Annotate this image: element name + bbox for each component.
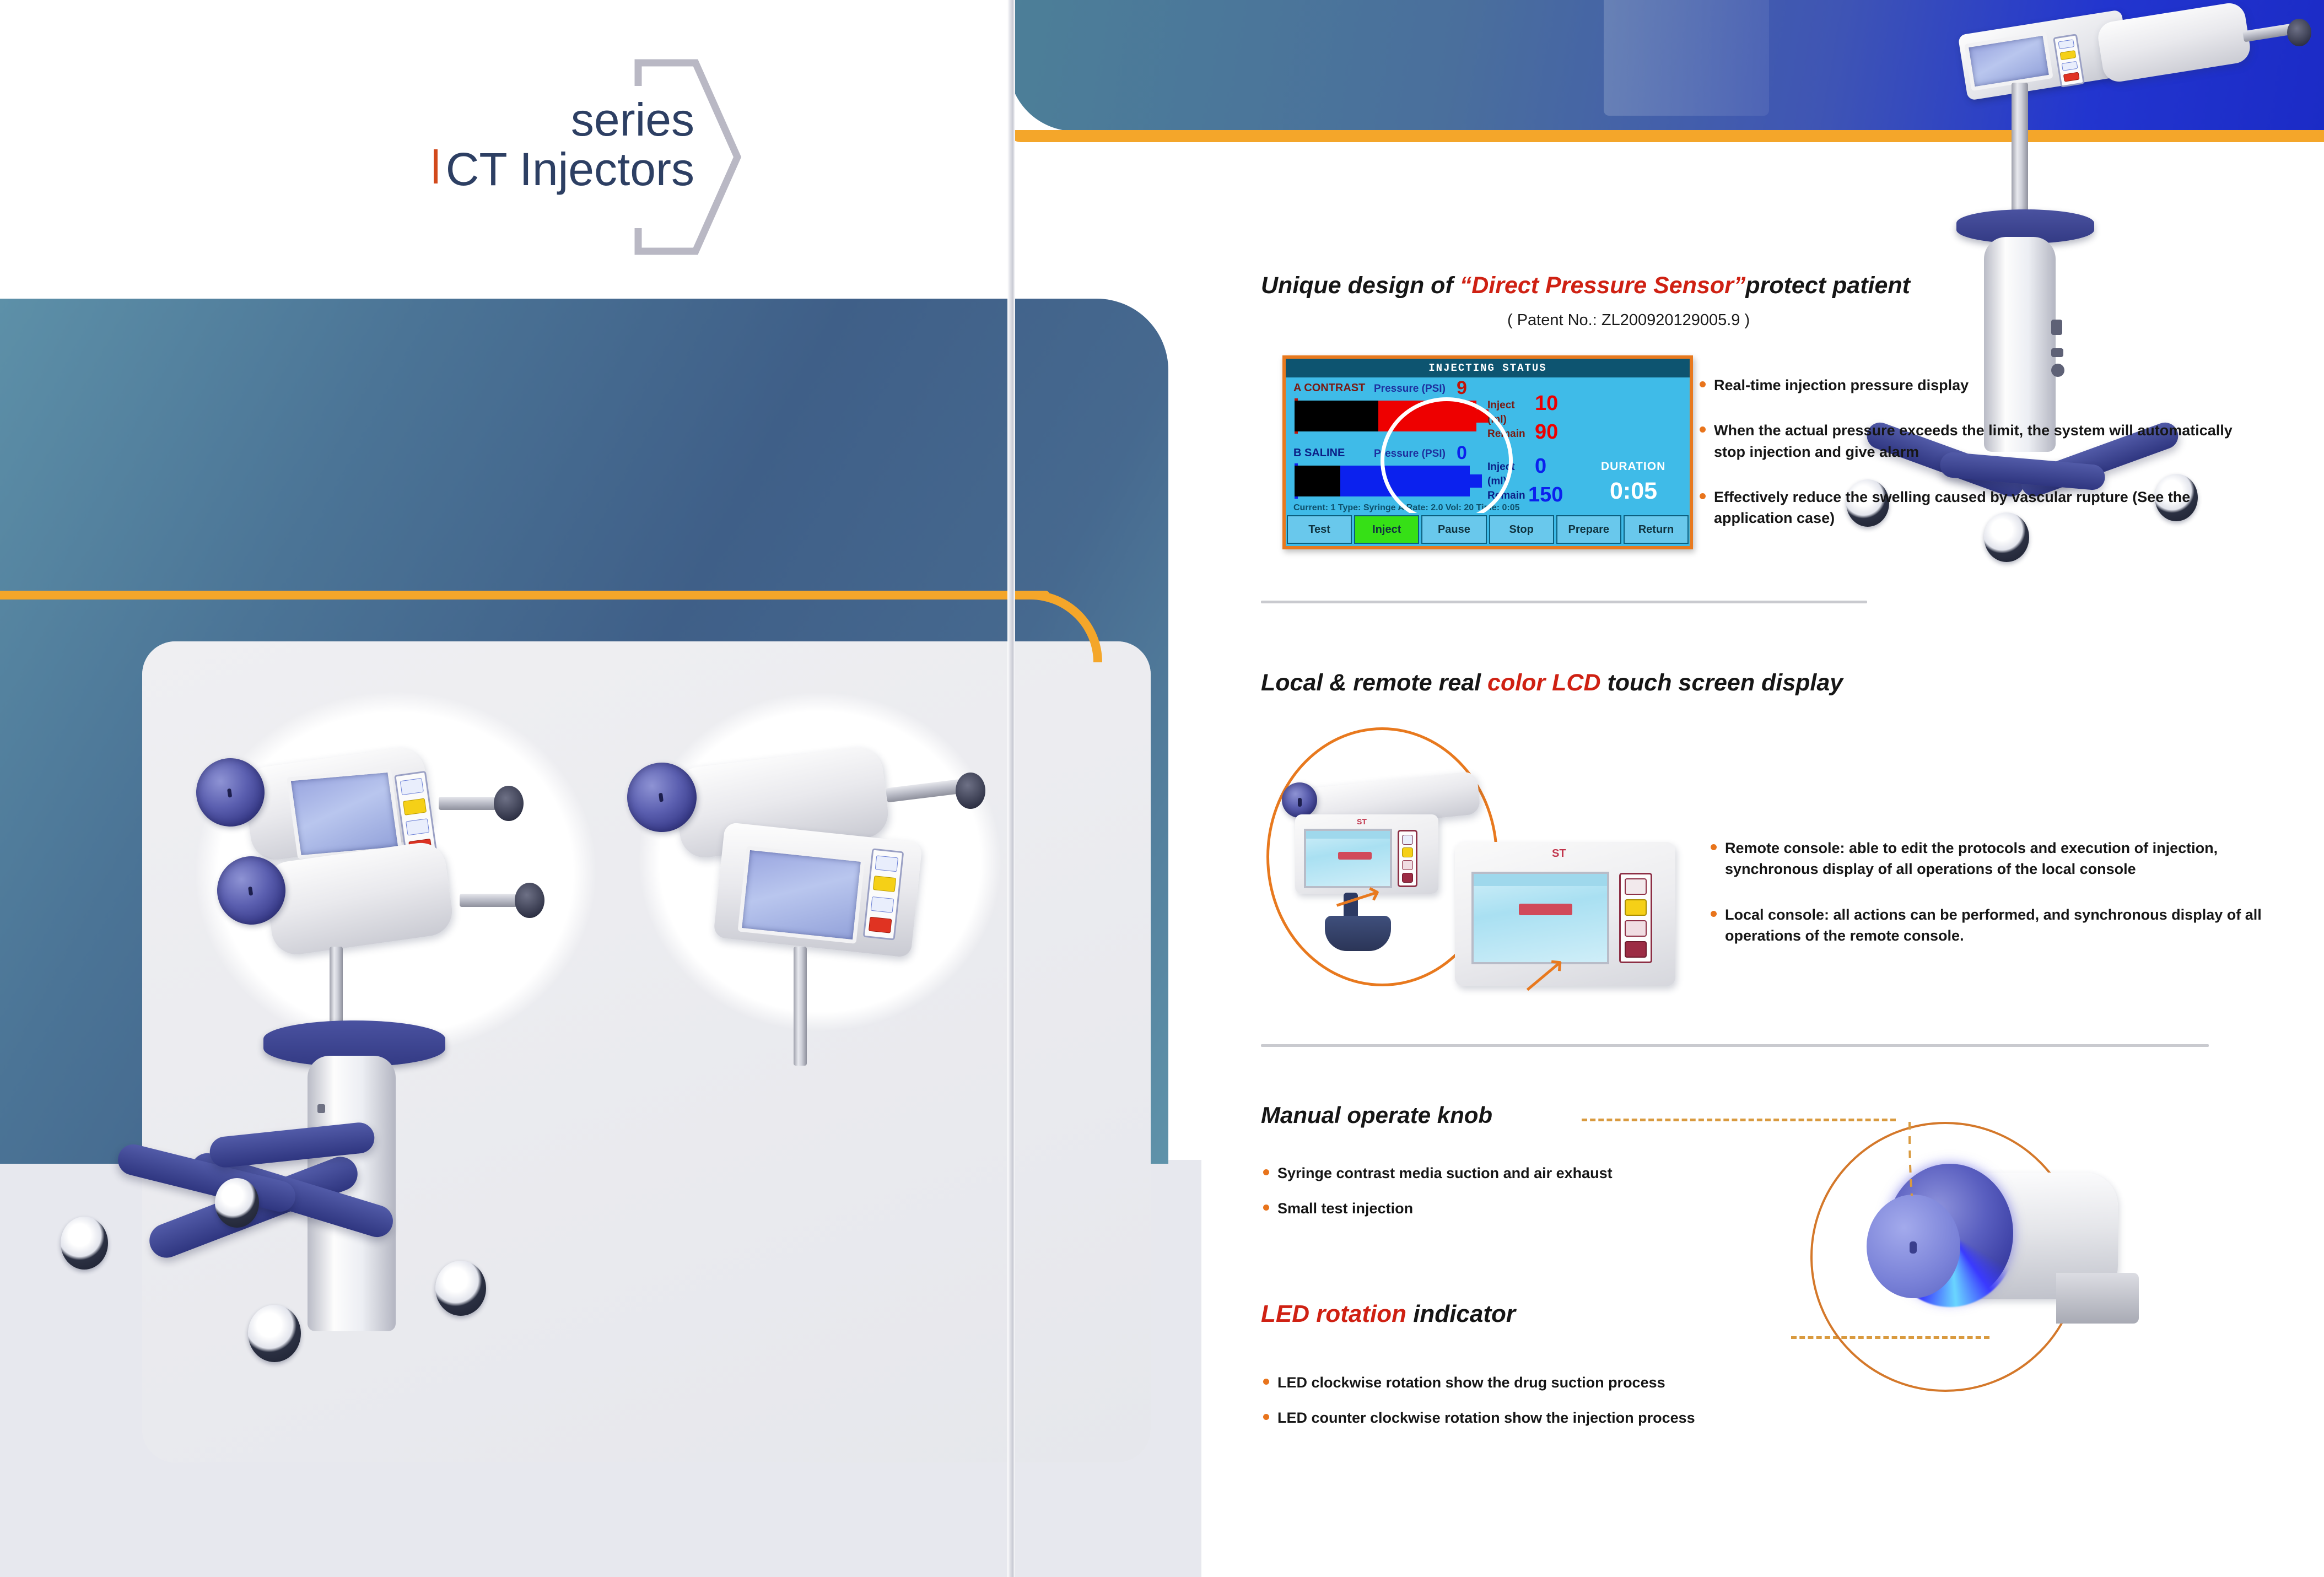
bullet-list-color-lcd: Remote console: able to edit the protoco… <box>1708 838 2276 970</box>
lcd-button-test[interactable]: Test <box>1287 515 1352 544</box>
warning-button-icon <box>873 876 896 892</box>
power-led <box>2051 348 2063 357</box>
list-item: Real-time injection pressure display <box>1697 375 2248 396</box>
indicator-light <box>2051 320 2062 335</box>
lcd-body: A CONTRAST Pressure (PSI) 9 Inject (ml) … <box>1286 377 1690 520</box>
channel-b-pressure-label: Pressure (PSI) <box>1374 448 1446 460</box>
info-button-icon <box>1402 860 1414 870</box>
duration-label: DURATION <box>1601 460 1665 473</box>
stop-button-icon <box>869 917 892 933</box>
section-divider-1 <box>1261 601 1867 603</box>
list-item: Effectively reduce the swelling caused b… <box>1697 487 2248 529</box>
info-button-icon <box>2062 61 2078 71</box>
power-button-icon <box>875 855 898 872</box>
list-item: LED counter clockwise rotation show the … <box>1261 1407 1812 1428</box>
channel-a-remain-label: Remain <box>1487 428 1525 440</box>
channel-b-remain-label: Remain <box>1487 490 1525 502</box>
list-item: LED clockwise rotation show the drug suc… <box>1261 1372 1812 1393</box>
indicator-light <box>317 1104 325 1113</box>
info-button-icon <box>1625 920 1647 937</box>
vertical-divider <box>1007 0 1015 1577</box>
section-heading-pressure-sensor: Unique design of “Direct Pressure Sensor… <box>1261 272 1910 299</box>
section-heading-manual-knob: Manual operate knob <box>1261 1102 1492 1128</box>
channel-b-inject-value: 0 <box>1535 455 1546 478</box>
lcd-button-return[interactable]: Return <box>1624 515 1689 544</box>
bullet-list-manual-knob: Syringe contrast media suction and air e… <box>1261 1163 1757 1234</box>
channel-b-unit-label: (ml) <box>1487 476 1507 488</box>
status-line-current: Current: 1 Type: Syringe A Rate: 2.0 Vol… <box>1293 503 1519 513</box>
channel-a-syringe-bar <box>1295 401 1476 431</box>
power-button-icon <box>2058 39 2074 49</box>
list-item: Remote console: able to edit the protoco… <box>1708 838 2276 880</box>
title-red-bar <box>434 149 438 183</box>
channel-a-inject-label: Inject <box>1487 399 1515 412</box>
floor-stand-base <box>50 1113 601 1422</box>
panel-orange-edge <box>0 591 1050 600</box>
section-heading-color-lcd: Local & remote real color LCD touch scre… <box>1261 669 1843 696</box>
confirm-button-icon <box>1625 878 1647 895</box>
warning-button-icon <box>1625 899 1647 916</box>
console-mount <box>1325 916 1391 951</box>
console-photo-group: ST ST <box>1261 722 1702 1008</box>
patent-number: ( Patent No.: ZL200920129005.9 ) <box>1507 311 1750 330</box>
left-column: series CT Injectors <box>0 0 1201 1577</box>
stop-button-icon <box>1402 873 1414 883</box>
channel-a-inject-value: 10 <box>1535 392 1558 415</box>
channel-b-inject-label: Inject <box>1487 461 1515 473</box>
channel-b-remain-value: 150 <box>1528 483 1563 507</box>
brochure-page: series CT Injectors <box>0 0 2324 1577</box>
bullet-list-pressure-sensor: Real-time injection pressure display Whe… <box>1697 375 2248 553</box>
warning-button-icon <box>2060 50 2077 60</box>
list-item: Syringe contrast media suction and air e… <box>1261 1163 1757 1184</box>
injecting-status-screen: INJECTING STATUS A CONTRAST Pressure (PS… <box>1282 355 1693 549</box>
stop-button-icon <box>2063 72 2080 82</box>
channel-b-syringe-bar <box>1295 466 1470 496</box>
channel-a-name: A CONTRAST <box>1293 382 1365 395</box>
lcd-title: INJECTING STATUS <box>1286 359 1690 377</box>
channel-a-unit-label: (ml) <box>1487 414 1507 426</box>
channel-a-pressure-label: Pressure (PSI) <box>1374 383 1446 395</box>
list-item: Local console: all actions can be perfor… <box>1708 904 2276 947</box>
section-divider-2 <box>1261 1044 2209 1047</box>
lcd-button-stop[interactable]: Stop <box>1489 515 1554 544</box>
led-knob-closeup-photo <box>1799 1113 2185 1433</box>
channel-b-name: B SALINE <box>1293 447 1345 460</box>
channel-a-remain-value: 90 <box>1535 420 1558 444</box>
confirm-button-icon <box>1402 835 1414 845</box>
right-column: Unique design of “Direct Pressure Sensor… <box>1201 0 2324 1577</box>
warning-button-icon <box>403 798 427 815</box>
stop-button-icon <box>1625 941 1647 958</box>
hexagon-bracket-icon <box>634 55 744 259</box>
lcd-button-row[interactable]: Test Inject Pause Stop Prepare Return <box>1286 513 1690 546</box>
brand-logo: ST <box>1552 847 1566 860</box>
lcd-button-prepare[interactable]: Prepare <box>1556 515 1621 544</box>
info-button-icon <box>871 896 894 913</box>
brand-logo: ST <box>1357 817 1367 826</box>
lcd-button-pause[interactable]: Pause <box>1421 515 1486 544</box>
list-item: When the actual pressure exceeds the lim… <box>1697 420 2248 462</box>
duration-value: 0:05 <box>1610 478 1657 505</box>
power-button-icon <box>400 777 424 795</box>
channel-b-pressure-value: 0 <box>1457 442 1467 464</box>
product-showcase-panel <box>0 299 1168 1164</box>
list-item: Small test injection <box>1261 1198 1757 1219</box>
warning-button-icon <box>1402 847 1414 857</box>
section-heading-led-rotation: LED rotation indicator <box>1261 1300 1516 1328</box>
bullet-list-led-rotation: LED clockwise rotation show the drug suc… <box>1261 1372 1812 1443</box>
channel-a-pressure-value: 9 <box>1457 377 1467 399</box>
lcd-button-inject[interactable]: Inject <box>1354 515 1419 544</box>
info-button-icon <box>406 818 429 835</box>
